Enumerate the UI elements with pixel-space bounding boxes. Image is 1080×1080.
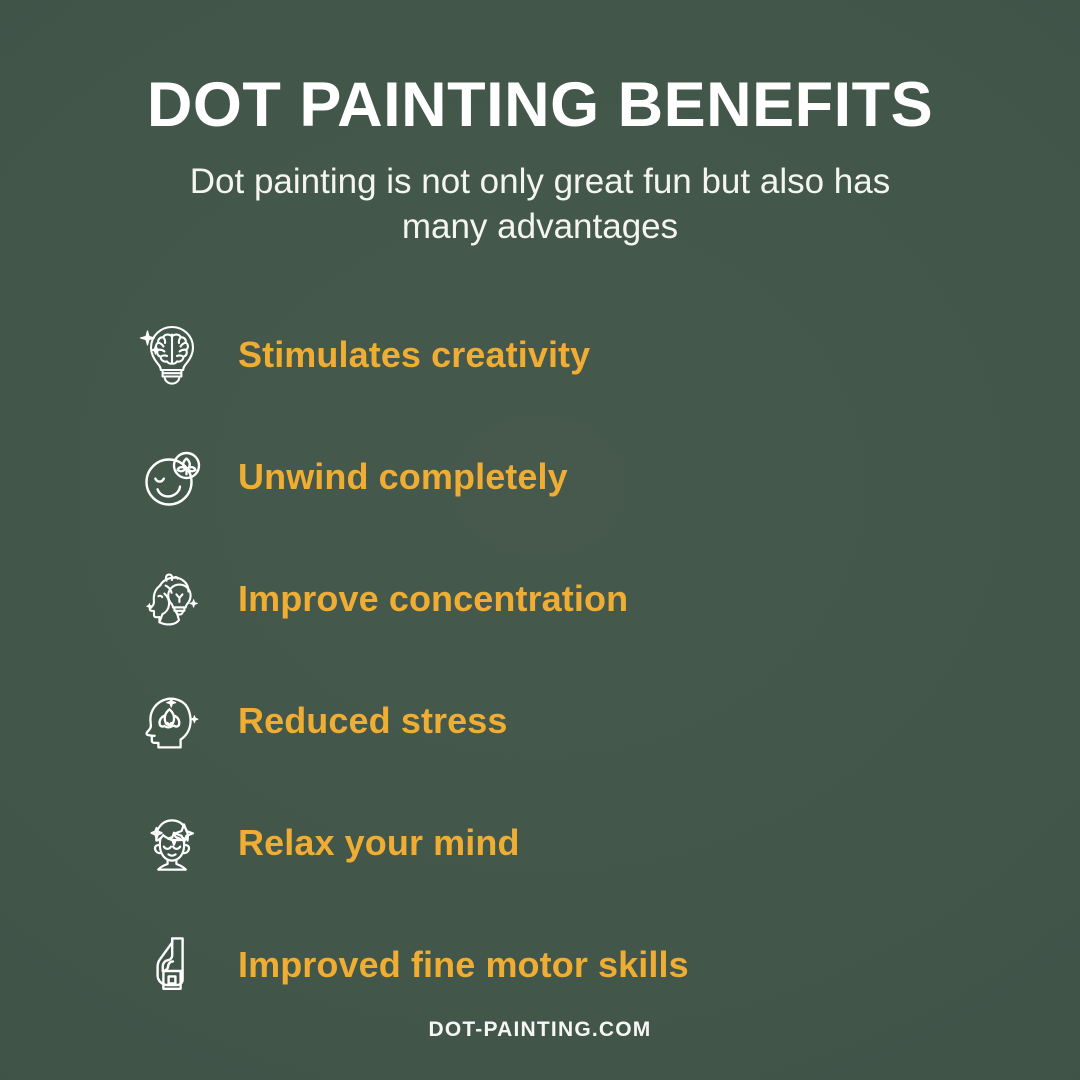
website-url[interactable]: DOT-PAINTING.COM bbox=[429, 1018, 652, 1041]
list-item-label: Reduced stress bbox=[238, 703, 508, 739]
relaxed-face-stars-icon bbox=[138, 807, 206, 879]
list-item: Improved fine motor skills bbox=[138, 904, 1080, 1026]
list-item: Improve concentration bbox=[138, 538, 1080, 660]
benefits-list: Stimulates creativity bbox=[0, 294, 1080, 1026]
poster-footer: DOT-PAINTING.COM bbox=[0, 1018, 1080, 1042]
list-item-label: Improved fine motor skills bbox=[238, 947, 689, 983]
list-item: Reduced stress bbox=[138, 660, 1080, 782]
poster-header: DOT PAINTING BENEFITS Dot painting is no… bbox=[0, 0, 1080, 250]
hand-holding-object-icon bbox=[138, 929, 206, 1001]
list-item: Stimulates creativity bbox=[138, 294, 1080, 416]
poster-canvas: DOT PAINTING BENEFITS Dot painting is no… bbox=[0, 0, 1080, 1080]
smiling-face-flower-icon bbox=[138, 441, 206, 513]
page-subtitle: Dot painting is not only great fun but a… bbox=[125, 160, 955, 250]
head-profile-lotus-icon bbox=[138, 685, 206, 757]
list-item: Relax your mind bbox=[138, 782, 1080, 904]
list-item-label: Unwind completely bbox=[238, 459, 568, 495]
head-profile-lightbulb-icon bbox=[138, 563, 206, 635]
lightbulb-brain-icon bbox=[138, 319, 206, 391]
list-item-label: Improve concentration bbox=[238, 581, 628, 617]
list-item-label: Relax your mind bbox=[238, 825, 520, 861]
page-title: DOT PAINTING BENEFITS bbox=[0, 72, 1080, 138]
list-item: Unwind completely bbox=[138, 416, 1080, 538]
list-item-label: Stimulates creativity bbox=[238, 337, 590, 373]
